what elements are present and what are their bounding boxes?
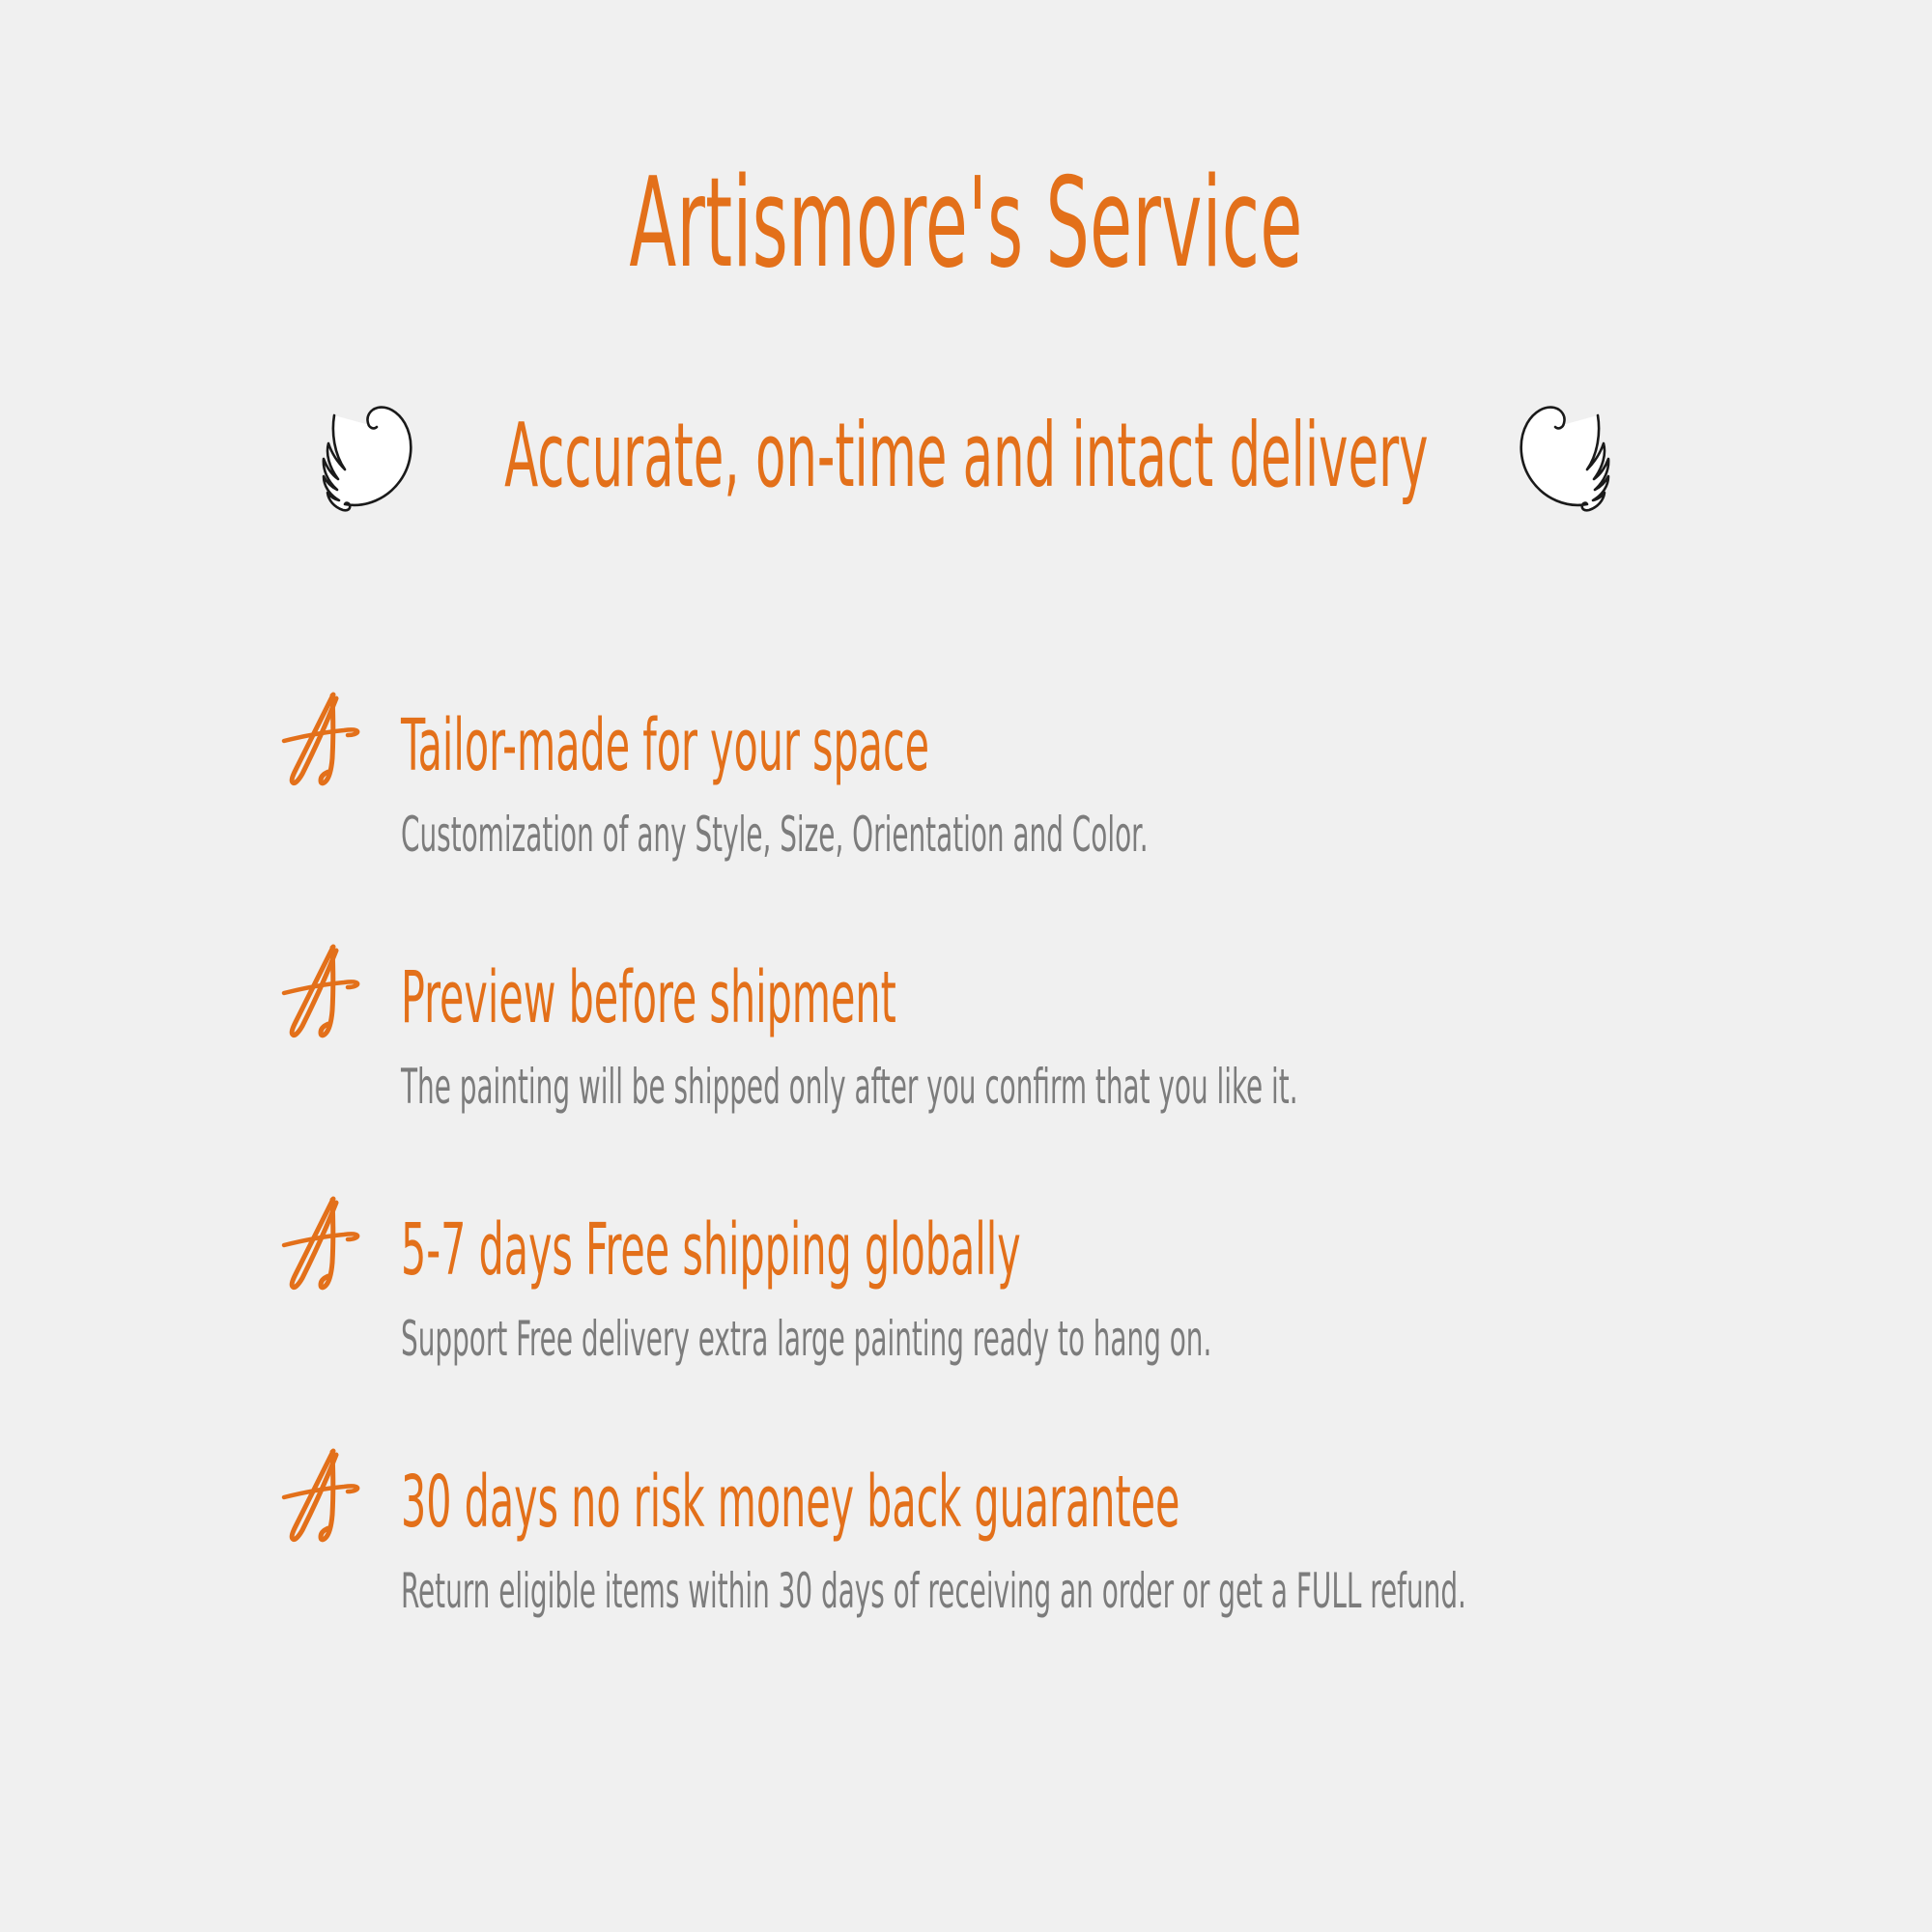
feature-heading: 30 days no risk money back guarantee [401, 1466, 1308, 1538]
list-item: 5-7 days Free shipping globally Support … [280, 1214, 1864, 1363]
list-item-body: 30 days no risk money back guarantee Ret… [401, 1466, 1864, 1615]
feature-heading: Preview before shipment [401, 962, 1308, 1034]
feature-description: Customization of any Style, Size, Orient… [401, 810, 1308, 859]
feature-description: Return eligible items within 30 days of … [401, 1567, 1308, 1615]
list-item-body: Preview before shipment The painting wil… [401, 962, 1864, 1111]
list-item: Tailor-made for your space Customization… [280, 710, 1864, 859]
feature-description: Support Free delivery extra large painti… [401, 1315, 1308, 1363]
wing-icon [1508, 404, 1624, 518]
feature-description: The painting will be shipped only after … [401, 1063, 1308, 1111]
script-a-icon [280, 941, 369, 1042]
script-a-icon [280, 1193, 369, 1294]
page-title: Artismore's Service [367, 162, 1565, 286]
wing-icon [308, 404, 424, 518]
list-item-body: Tailor-made for your space Customization… [401, 710, 1864, 859]
feature-heading: 5-7 days Free shipping globally [401, 1214, 1308, 1286]
subtitle-banner: Accurate, on-time and intact delivery [0, 398, 1932, 524]
script-a-icon [280, 1445, 369, 1547]
list-item: Preview before shipment The painting wil… [280, 962, 1864, 1111]
service-info-page: Artismore's Service Accurate, on-time an… [0, 0, 1932, 1932]
list-item-body: 5-7 days Free shipping globally Support … [401, 1214, 1864, 1363]
list-item: 30 days no risk money back guarantee Ret… [280, 1466, 1864, 1615]
feature-heading: Tailor-made for your space [401, 710, 1308, 781]
script-a-icon [280, 689, 369, 790]
service-feature-list: Tailor-made for your space Customization… [280, 710, 1864, 1615]
subtitle-text: Accurate, on-time and intact delivery [504, 412, 1428, 510]
